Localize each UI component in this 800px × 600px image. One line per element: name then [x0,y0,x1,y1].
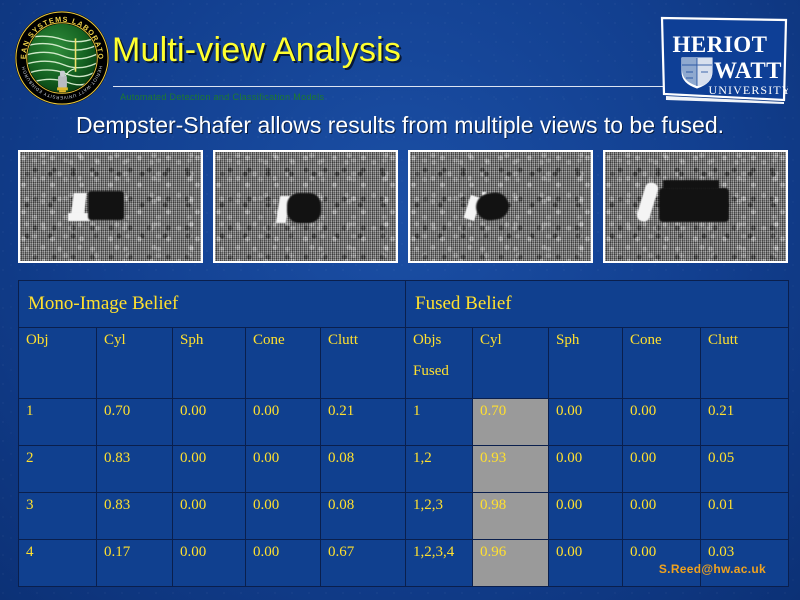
section-header-fused: Fused Belief [406,281,789,328]
cell-mono-clutt: 0.67 [321,540,406,587]
cell-fused-objs: 1 [406,399,473,446]
cell-mono-cyl: 0.17 [97,540,173,587]
slide-statement: Dempster-Shafer allows results from mult… [0,112,800,139]
cell-mono-cone: 0.00 [246,540,321,587]
cell-fused-cyl: 0.93 [473,446,549,493]
hw-logo-line2: WATT [714,58,782,83]
cell-fused-cone: 0.00 [623,399,701,446]
sonar-image-strip [18,150,788,265]
col-head-mono-clutt: Clutt [321,328,406,399]
col-head-fused-clutt: Clutt [701,328,789,399]
sonar-view-3 [408,150,593,263]
cell-mono-sph: 0.00 [173,493,246,540]
table-column-header-row: Obj Cyl Sph Cone Clutt Objs Fused Cyl Sp… [19,328,789,399]
cell-fused-cone: 0.00 [623,446,701,493]
sonar-shadow-4b [663,180,719,189]
sonar-highlight-1b [68,213,90,221]
hw-logo-line3: UNIVERSITY [709,83,789,97]
section-header-mono: Mono-Image Belief [19,281,406,328]
sonar-view-1 [18,150,203,263]
cell-mono-obj: 1 [19,399,97,446]
page-title: Multi-view Analysis [112,31,401,70]
cell-mono-sph: 0.00 [173,446,246,493]
col-head-mono-cyl: Cyl [97,328,173,399]
cell-fused-clutt: 0.05 [701,446,789,493]
cell-fused-sph: 0.00 [549,446,623,493]
page-subtitle: Automated Detection and Classification M… [120,92,324,102]
cell-mono-obj: 4 [19,540,97,587]
footer-contact: S.Reed@hw.ac.uk [659,562,766,576]
cell-mono-sph: 0.00 [173,399,246,446]
cell-fused-cyl: 0.96 [473,540,549,587]
col-head-fused-sph: Sph [549,328,623,399]
cell-fused-cyl: 0.70 [473,399,549,446]
col-head-mono-obj: Obj [19,328,97,399]
cell-fused-objs: 1,2,3 [406,493,473,540]
cell-mono-sph: 0.00 [173,540,246,587]
cell-fused-cyl: 0.98 [473,493,549,540]
cell-mono-obj: 3 [19,493,97,540]
ocean-systems-laboratory-logo: OCEAN SYSTEMS LABORATORY HERIOT-WATT UNI… [13,9,111,107]
cell-mono-cone: 0.00 [246,446,321,493]
col-head-mono-cone: Cone [246,328,321,399]
cell-fused-objs: 1,2 [406,446,473,493]
hw-logo-line1: HERIOT [672,32,767,57]
col-head-fused-objs-line2: Fused [413,363,465,380]
cell-fused-clutt: 0.21 [701,399,789,446]
cell-mono-cone: 0.00 [246,493,321,540]
cell-fused-sph: 0.00 [549,540,623,587]
sonar-view-2 [213,150,398,263]
col-head-fused-cyl: Cyl [473,328,549,399]
cell-mono-clutt: 0.08 [321,446,406,493]
cell-mono-clutt: 0.08 [321,493,406,540]
cell-fused-cone: 0.00 [623,493,701,540]
sonar-view-4 [603,150,788,263]
belief-results-table: Mono-Image Belief Fused Belief Obj Cyl S… [18,280,789,587]
cell-mono-cone: 0.00 [246,399,321,446]
slide-header: OCEAN SYSTEMS LABORATORY HERIOT-WATT UNI… [0,0,800,118]
cell-mono-cyl: 0.70 [97,399,173,446]
cell-mono-cyl: 0.83 [97,446,173,493]
cell-fused-objs: 1,2,3,4 [406,540,473,587]
cell-fused-sph: 0.00 [549,493,623,540]
sonar-shadow-1 [88,191,124,220]
table-section-header-row: Mono-Image Belief Fused Belief [19,281,789,328]
sonar-shadow-4 [659,188,729,222]
cell-mono-obj: 2 [19,446,97,493]
slide-canvas: OCEAN SYSTEMS LABORATORY HERIOT-WATT UNI… [0,0,800,600]
col-head-mono-sph: Sph [173,328,246,399]
cell-fused-clutt: 0.01 [701,493,789,540]
title-divider [113,86,666,87]
cell-fused-sph: 0.00 [549,399,623,446]
table-row: 2 0.83 0.00 0.00 0.08 1,2 0.93 0.00 0.00… [19,446,789,493]
table-row: 3 0.83 0.00 0.00 0.08 1,2,3 0.98 0.00 0.… [19,493,789,540]
col-head-fused-cone: Cone [623,328,701,399]
cell-mono-clutt: 0.21 [321,399,406,446]
col-head-fused-objs: Objs Fused [406,328,473,399]
sonar-shadow-2 [287,193,321,223]
col-head-fused-objs-line1: Objs [413,332,465,349]
table-row: 1 0.70 0.00 0.00 0.21 1 0.70 0.00 0.00 0… [19,399,789,446]
heriot-watt-university-logo: HERIOT WATT UNIVERSITY [660,16,788,104]
cell-mono-cyl: 0.83 [97,493,173,540]
